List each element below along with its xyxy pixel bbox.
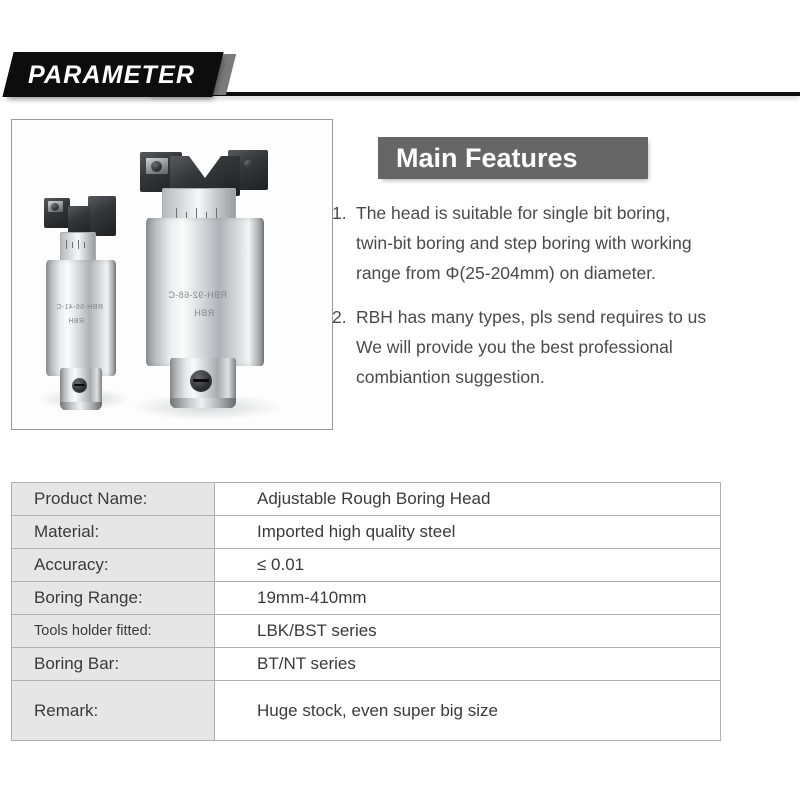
table-row: Remark: Huge stock, even super big size [12,681,721,741]
spec-value: Adjustable Rough Boring Head [215,483,721,516]
feature-line: combiantion suggestion. [356,362,800,392]
table-row: Material: Imported high quality steel [12,516,721,549]
engraving-small-2: RBH [68,318,84,325]
main-features-heading: Main Features [378,137,648,179]
feature-line: We will provide you the best professiona… [356,332,800,362]
product-photo: RBH-56-41-C RBH [11,119,333,430]
spec-value: ≤ 0.01 [215,549,721,582]
banner-horizontal-rule [150,92,800,96]
specification-table: Product Name: Adjustable Rough Boring He… [11,482,721,741]
spec-label: Tools holder fitted: [12,615,215,648]
scale-mark-small-4 [84,242,85,248]
shank-screw-slot-large [193,379,209,382]
table-row: Tools holder fitted: LBK/BST series [12,615,721,648]
feature-number: 2. [332,302,356,392]
feature-line: RBH has many types, pls send requires to… [356,302,800,332]
main-features-list: 1. The head is suitable for single bit b… [332,198,800,406]
feature-line: The head is suitable for single bit bori… [356,198,800,228]
spec-label: Material: [12,516,215,549]
table-row: Accuracy: ≤ 0.01 [12,549,721,582]
feature-text: The head is suitable for single bit bori… [356,198,800,288]
spec-value: Imported high quality steel [215,516,721,549]
feature-line: twin-bit boring and step boring with wor… [356,228,800,258]
spec-value: BT/NT series [215,648,721,681]
product-parameter-page: PARAMETER RBH-56-41 [0,0,800,800]
insert-block-right-small [88,196,116,236]
parameter-banner: PARAMETER [0,52,800,108]
scale-mark-small-1 [66,240,67,249]
spec-value: LBK/BST series [215,615,721,648]
engraving-small-1: RBH-56-41-C [56,304,103,311]
feature-number: 1. [332,198,356,288]
boring-head-large: RBH-92-68-C RBH [140,148,270,410]
feature-item: 2. RBH has many types, pls send requires… [332,302,800,392]
spec-value: Huge stock, even super big size [215,681,721,741]
shank-base-large [170,398,236,408]
spec-label: Accuracy: [12,549,215,582]
engraving-large-2: RBH [194,308,214,318]
insert-screw-left-large [151,161,162,172]
table-row: Product Name: Adjustable Rough Boring He… [12,483,721,516]
scale-mark-small-3 [78,240,79,249]
spec-label: Remark: [12,681,215,741]
shank-screw-slot-small [74,384,85,386]
insert-screw-right-large [244,160,252,168]
shank-base-small [60,402,102,410]
photo-background: RBH-56-41-C RBH [12,120,332,429]
spec-label: Product Name: [12,483,215,516]
main-features-heading-label: Main Features [396,137,578,179]
feature-item: 1. The head is suitable for single bit b… [332,198,800,288]
spec-value: 19mm-410mm [215,582,721,615]
banner-title: PARAMETER [28,58,228,92]
table-row: Boring Range: 19mm-410mm [12,582,721,615]
table-row: Boring Bar: BT/NT series [12,648,721,681]
spec-label: Boring Bar: [12,648,215,681]
insert-screw-left-small [51,203,59,211]
feature-line: range from Φ(25-204mm) on diameter. [356,258,800,288]
boring-head-small: RBH-56-41-C RBH [42,192,120,404]
feature-text: RBH has many types, pls send requires to… [356,302,800,392]
scale-mark-small-2 [72,242,73,248]
spec-label: Boring Range: [12,582,215,615]
engraving-large-1: RBH-92-68-C [168,290,227,300]
